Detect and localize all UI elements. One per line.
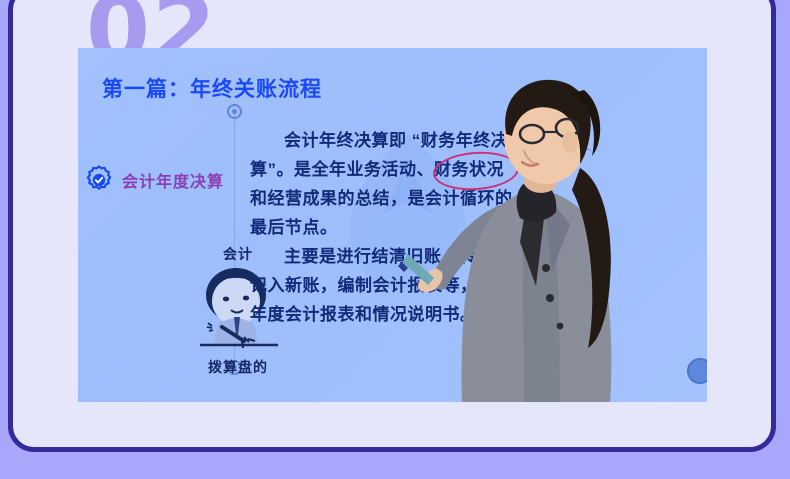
topic-row: 会计年度决算: [84, 165, 224, 195]
topic-label: 会计年度决算: [122, 168, 224, 192]
slide-panel: 第一篇：年终关账流程 会计年度决算 会计: [78, 48, 707, 402]
page-root: 02 第一篇：年终关账流程 会计年度决算 会计: [0, 0, 790, 479]
slide-title: 第一篇：年终关账流程: [102, 73, 322, 103]
gear-check-icon: [84, 165, 114, 195]
decorative-circle: [687, 358, 707, 384]
bullet-marker-top: [227, 104, 242, 119]
presenter-figure: [374, 72, 674, 402]
mascot-caption-bottom: 拨算盘的: [174, 359, 302, 376]
